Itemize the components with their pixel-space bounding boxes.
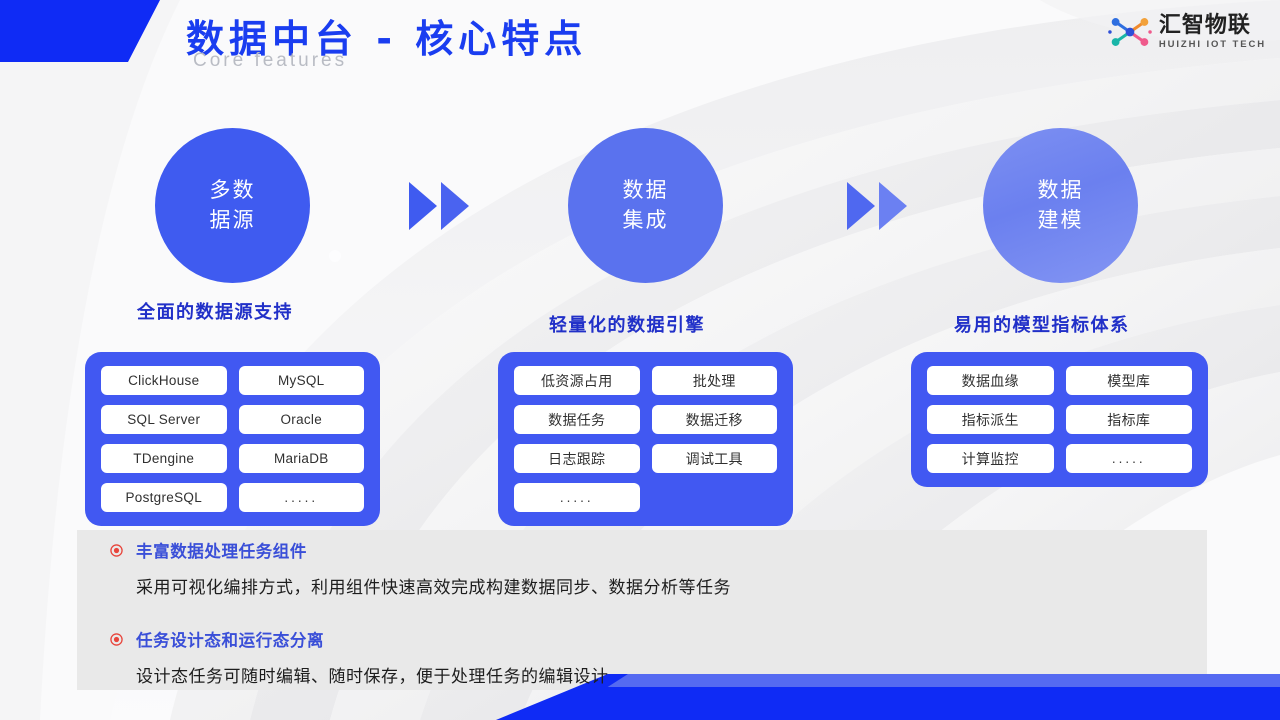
bullet-body: 采用可视化编排方式，利用组件快速高效完成构建数据同步、数据分析等任务 bbox=[136, 573, 1200, 598]
feature-pill[interactable]: SQL Server bbox=[101, 405, 227, 434]
feature-pill[interactable]: 数据迁移 bbox=[652, 405, 778, 434]
feature-panel-modeling: 数据血缘 模型库 指标派生 指标库 计算监控 ..... bbox=[911, 352, 1208, 487]
feature-pill[interactable]: 指标派生 bbox=[927, 405, 1054, 434]
section-caption-1: 全面的数据源支持 bbox=[137, 298, 293, 324]
feature-pill[interactable]: 数据任务 bbox=[514, 405, 640, 434]
feature-pill[interactable]: 日志跟踪 bbox=[514, 444, 640, 473]
feature-pill[interactable]: PostgreSQL bbox=[101, 483, 227, 512]
flow-step-2-line2: 集成 bbox=[623, 206, 669, 236]
flow-step-circle-1: 多数 据源 bbox=[155, 128, 310, 283]
decorative-dot bbox=[329, 250, 341, 262]
feature-pill[interactable]: 模型库 bbox=[1066, 366, 1193, 395]
page-subtitle: Core features bbox=[193, 50, 347, 72]
feature-pill-more[interactable]: ..... bbox=[239, 483, 365, 512]
bullet-item: 任务设计态和运行态分离 设计态任务可随时编辑、随时保存，便于处理任务的编辑设计 bbox=[110, 627, 1200, 687]
section-caption-3: 易用的模型指标体系 bbox=[954, 311, 1130, 337]
feature-pill-placeholder bbox=[652, 483, 778, 512]
feature-pill[interactable]: 指标库 bbox=[1066, 405, 1193, 434]
flow-step-3-line2: 建模 bbox=[1038, 206, 1084, 236]
flow-step-2-line1: 数据 bbox=[623, 176, 669, 206]
double-chevron-right-icon bbox=[407, 180, 473, 232]
feature-pill[interactable]: 低资源占用 bbox=[514, 366, 640, 395]
bullet-item: 丰富数据处理任务组件 采用可视化编排方式，利用组件快速高效完成构建数据同步、数据… bbox=[110, 538, 1200, 598]
feature-pill[interactable]: 批处理 bbox=[652, 366, 778, 395]
feature-pill[interactable]: 计算监控 bbox=[927, 444, 1054, 473]
feature-pill[interactable]: 数据血缘 bbox=[927, 366, 1054, 395]
feature-pill[interactable]: Oracle bbox=[239, 405, 365, 434]
feature-panel-engine: 低资源占用 批处理 数据任务 数据迁移 日志跟踪 调试工具 ..... bbox=[498, 352, 793, 526]
feature-pill-more[interactable]: ..... bbox=[1066, 444, 1193, 473]
logo-text-cn: 汇智物联 bbox=[1159, 14, 1251, 37]
feature-pill[interactable]: MariaDB bbox=[239, 444, 365, 473]
flow-step-1-line2: 据源 bbox=[210, 206, 256, 236]
section-caption-2: 轻量化的数据引擎 bbox=[549, 311, 705, 337]
feature-pill[interactable]: 调试工具 bbox=[652, 444, 778, 473]
radio-dot-icon bbox=[110, 544, 123, 557]
feature-pill-more[interactable]: ..... bbox=[514, 483, 640, 512]
feature-pill[interactable]: MySQL bbox=[239, 366, 365, 395]
flow-step-circle-3: 数据 建模 bbox=[983, 128, 1138, 283]
feature-panel-datasources: ClickHouse MySQL SQL Server Oracle TDeng… bbox=[85, 352, 380, 526]
feature-pill[interactable]: ClickHouse bbox=[101, 366, 227, 395]
slide-header: 数据中台 - 核心特点 Core features bbox=[0, 0, 1280, 84]
bullet-heading: 丰富数据处理任务组件 bbox=[136, 538, 307, 562]
bullet-list: 丰富数据处理任务组件 采用可视化编排方式，利用组件快速高效完成构建数据同步、数据… bbox=[110, 538, 1200, 687]
flow-step-1-line1: 多数 bbox=[210, 176, 256, 206]
flow-step-circle-2: 数据 集成 bbox=[568, 128, 723, 283]
radio-dot-icon bbox=[110, 633, 123, 646]
brand-logo: 汇智物联 HUIZHI IOT TECH bbox=[1108, 14, 1266, 50]
bullet-body: 设计态任务可随时编辑、随时保存，便于处理任务的编辑设计 bbox=[136, 662, 1200, 687]
bullet-heading: 任务设计态和运行态分离 bbox=[136, 627, 324, 651]
network-nodes-icon bbox=[1108, 15, 1152, 49]
flow-step-3-line1: 数据 bbox=[1038, 176, 1084, 206]
double-chevron-right-icon bbox=[845, 180, 911, 232]
logo-text-en: HUIZHI IOT TECH bbox=[1159, 39, 1266, 50]
feature-pill[interactable]: TDengine bbox=[101, 444, 227, 473]
